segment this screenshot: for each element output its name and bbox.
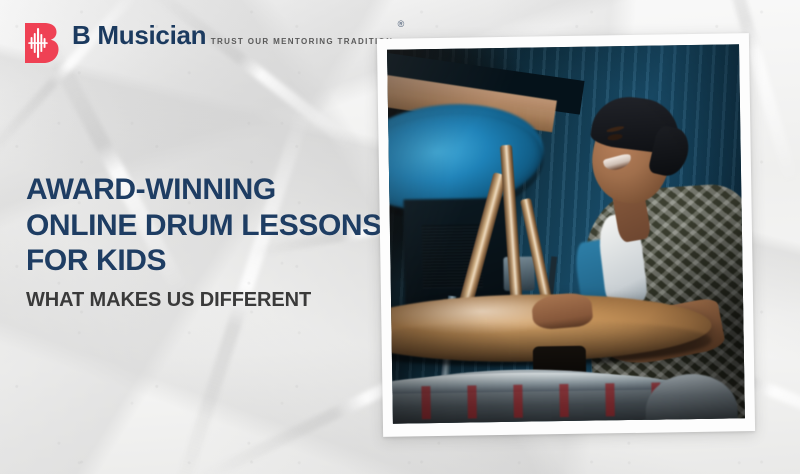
headline-line-1: AWARD-WINNING (26, 172, 386, 208)
brand-logo[interactable]: B Musician ® TRUST OUR MENTORING TRADITI… (22, 20, 393, 65)
hero-photo-drummer (387, 44, 745, 423)
headline-line-3: FOR KIDS (26, 243, 386, 279)
b-waveform-logo-icon (22, 21, 62, 65)
hero-photo-frame (377, 33, 755, 437)
hero-copy: AWARD-WINNING ONLINE DRUM LESSONS FOR KI… (26, 172, 386, 312)
brand-name: B Musician (72, 20, 206, 50)
hero-subheadline: WHAT MAKES US DIFFERENT (26, 289, 386, 312)
brand-tagline: TRUST OUR MENTORING TRADITION (211, 37, 394, 46)
registered-trademark-icon: ® (398, 19, 405, 29)
hero-banner: B Musician ® TRUST OUR MENTORING TRADITI… (0, 0, 800, 474)
brand-text-block: B Musician ® TRUST OUR MENTORING TRADITI… (72, 20, 393, 49)
headline-line-2: ONLINE DRUM LESSONS (26, 208, 386, 244)
page-title: AWARD-WINNING ONLINE DRUM LESSONS FOR KI… (26, 172, 386, 279)
snare-drum-lugs (387, 382, 681, 421)
